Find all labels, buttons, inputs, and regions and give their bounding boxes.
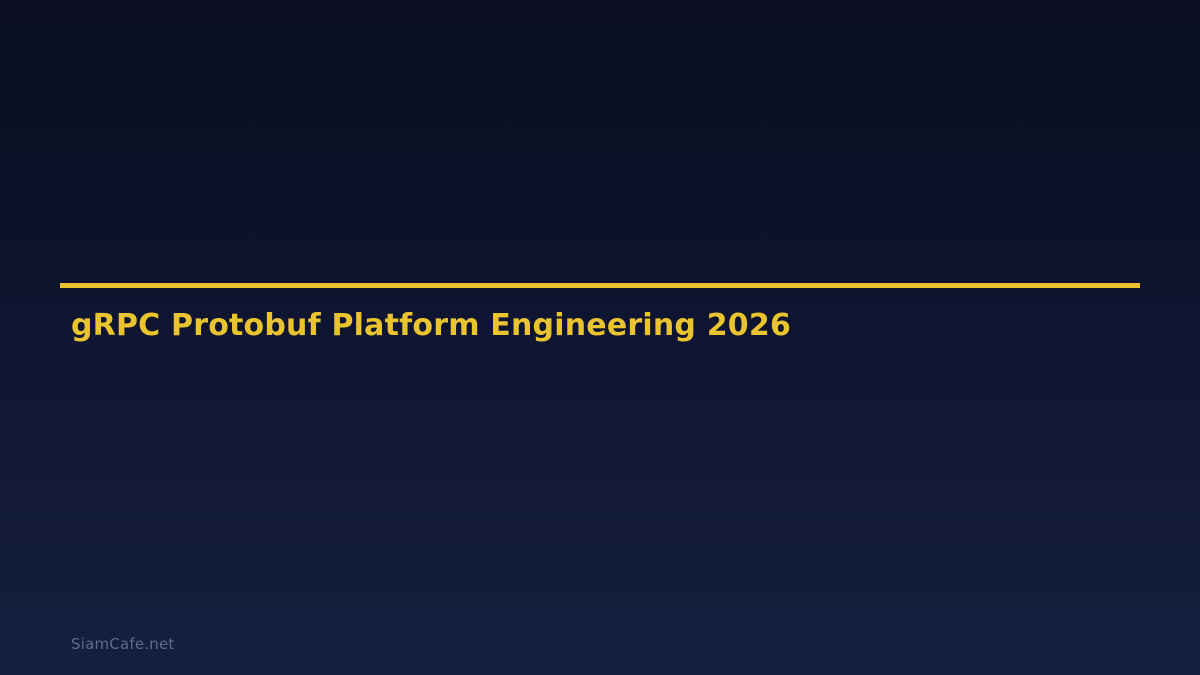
footer-brand-label: SiamCafe.net bbox=[71, 635, 174, 653]
title-slide: gRPC Protobuf Platform Engineering 2026 … bbox=[0, 0, 1200, 675]
accent-rule bbox=[60, 283, 1140, 288]
title-block: gRPC Protobuf Platform Engineering 2026 bbox=[60, 283, 1140, 288]
page-title: gRPC Protobuf Platform Engineering 2026 bbox=[71, 307, 791, 345]
slide-footer: SiamCafe.net bbox=[71, 634, 174, 653]
